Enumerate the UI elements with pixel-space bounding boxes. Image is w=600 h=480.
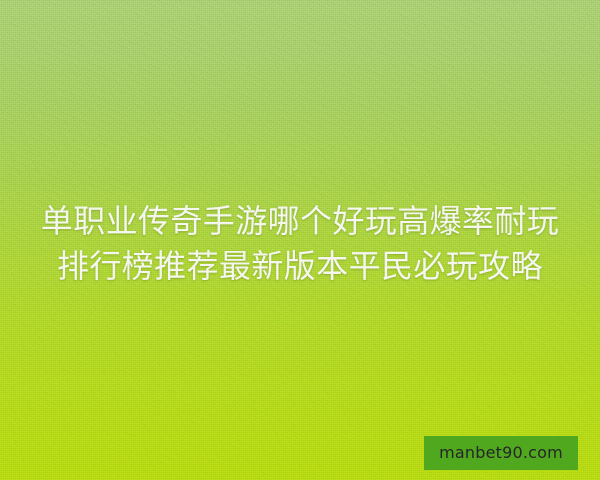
watermark-badge: manbet90.com [424,436,578,470]
banner-image: 单职业传奇手游哪个好玩高爆率耐玩排行榜推荐最新版本平民必玩攻略 manbet90… [0,0,600,480]
watermark-domain-label: manbet90.com [439,445,563,461]
banner-headline: 单职业传奇手游哪个好玩高爆率耐玩排行榜推荐最新版本平民必玩攻略 [0,199,600,289]
